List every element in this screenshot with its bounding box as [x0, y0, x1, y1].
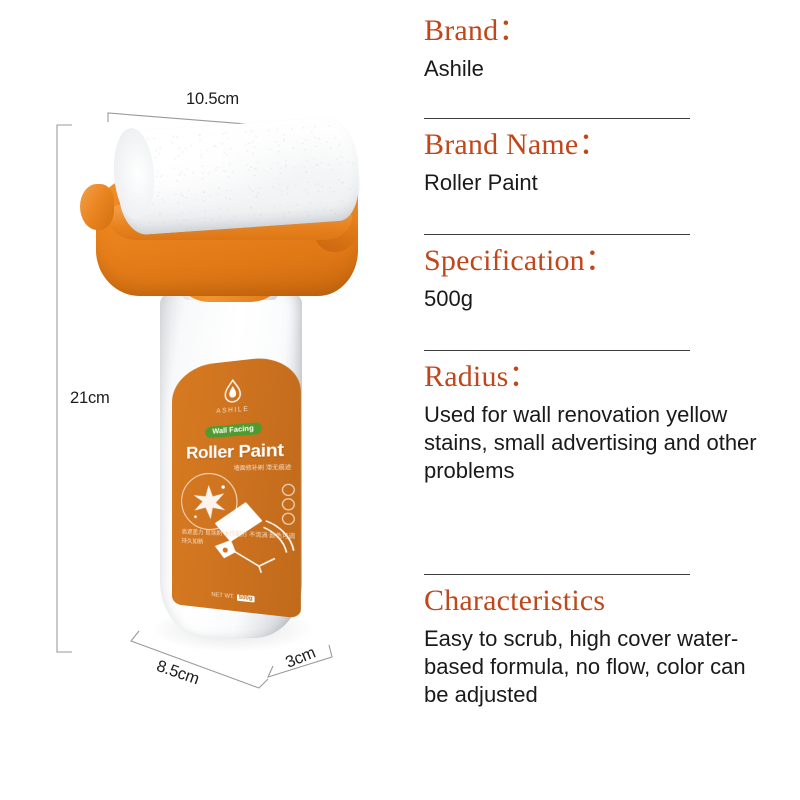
label-feature-chips — [282, 484, 295, 525]
label-subtitle: 墙面修补刷 滞无痕迹 — [234, 464, 292, 474]
spec-divider — [424, 574, 690, 575]
spec-section-brand: Brand： Ashile — [424, 16, 776, 83]
feature-chip — [282, 498, 295, 510]
spec-value-characteristics: Easy to scrub, high cover water-based fo… — [424, 625, 776, 709]
spec-value-radius: Used for wall renovation yellow stains, … — [424, 401, 776, 485]
dimension-label-width: 10.5cm — [186, 90, 239, 109]
product-image-panel: 10.5cm 21cm 8.5cm 3cm ASHILE Wall Facing… — [0, 0, 410, 800]
spec-heading-radius: Radius： — [424, 362, 776, 392]
dimension-label-depth-front: 8.5cm — [154, 657, 202, 689]
spec-section-radius: Radius： Used for wall renovation yellow … — [424, 362, 776, 485]
spec-value-brand: Ashile — [424, 55, 776, 83]
spec-heading-specification: Specification： — [424, 246, 776, 276]
foam-roller-texture — [119, 120, 357, 232]
bottle-label: ASHILE Wall Facing Roller Paint 墙面修补刷 滞无… — [172, 353, 301, 618]
spec-value-specification: 500g — [424, 285, 776, 313]
spec-section-brand-name: Brand Name： Roller Paint — [424, 130, 776, 197]
feature-chip — [282, 484, 295, 496]
spec-heading-brand: Brand： — [424, 16, 776, 46]
spec-value-brand-name: Roller Paint — [424, 169, 776, 197]
spec-divider — [424, 234, 690, 235]
spec-section-specification: Specification： 500g — [424, 246, 776, 313]
spec-section-characteristics: Characteristics Easy to scrub, high cove… — [424, 586, 776, 709]
label-product-title: Roller Paint — [172, 439, 301, 464]
brand-logo-icon — [222, 378, 243, 405]
roller-handle-knob — [80, 184, 114, 230]
paint-roller-product-photo: ASHILE Wall Facing Roller Paint 墙面修补刷 滞无… — [78, 118, 378, 658]
product-specification-panel: Brand： Ashile Brand Name： Roller Paint S… — [424, 0, 800, 800]
spec-heading-characteristics: Characteristics — [424, 586, 776, 616]
feature-chip — [282, 513, 295, 526]
spec-divider — [424, 350, 690, 351]
spec-heading-brand-name: Brand Name： — [424, 130, 776, 160]
spec-divider — [424, 118, 690, 119]
